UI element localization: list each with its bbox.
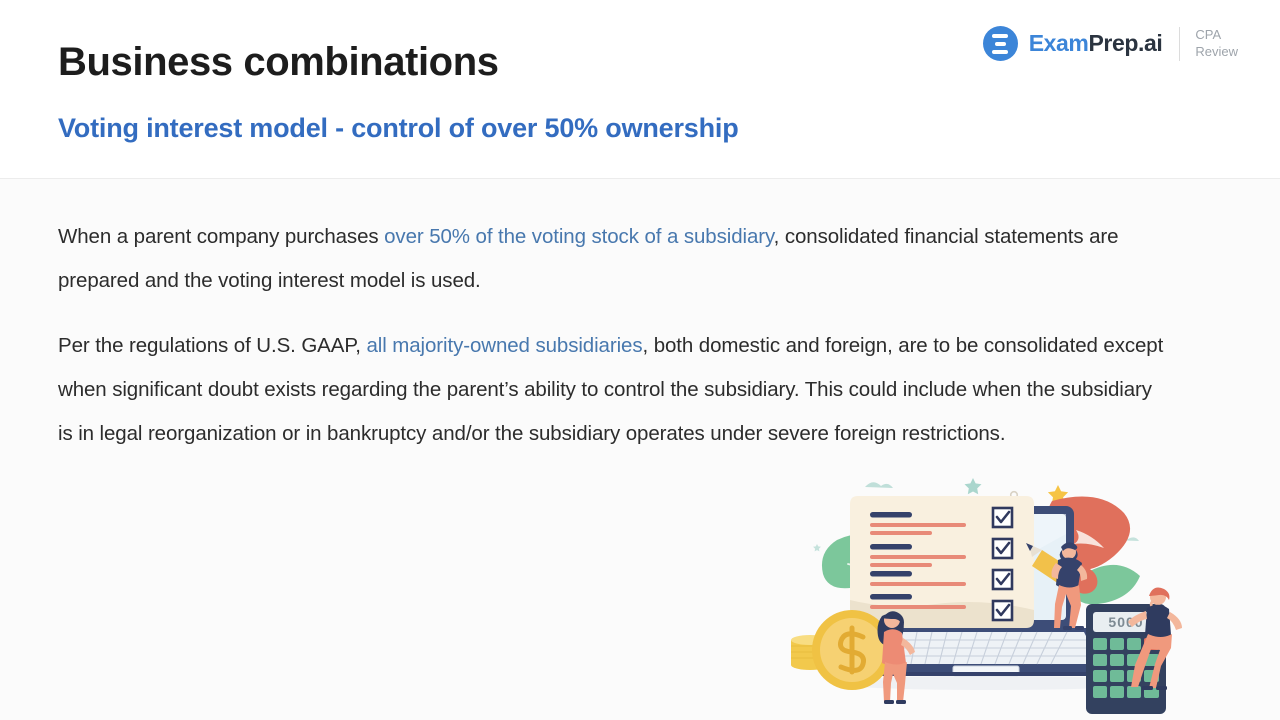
brand-subtitle: CPA Review bbox=[1195, 27, 1238, 60]
paragraph-2: Per the regulations of U.S. GAAP, all ma… bbox=[58, 324, 1168, 456]
green-star-tiny-icon bbox=[813, 544, 821, 551]
highlighted-text: all majority-owned subsidiaries bbox=[366, 334, 642, 357]
brand-wordmark-part2: Prep.ai bbox=[1088, 30, 1162, 56]
brand-wordmark-part1: Exam bbox=[1029, 30, 1089, 56]
text-segment: Per the regulations of U.S. GAAP, bbox=[58, 334, 366, 357]
brand-wordmark: ExamPrep.ai bbox=[1029, 32, 1163, 55]
slide: Business combinations Voting interest mo… bbox=[0, 0, 1280, 720]
examprep-circle-bars-icon bbox=[983, 26, 1018, 61]
checkbox-item bbox=[993, 601, 1012, 620]
brand-divider bbox=[1179, 27, 1180, 61]
checkbox-item bbox=[993, 570, 1012, 589]
cloud-shape bbox=[865, 482, 893, 488]
accounting-checklist-laptop-illustration: 5000 bbox=[790, 468, 1192, 720]
brand-subtitle-line2: Review bbox=[1195, 44, 1238, 60]
slide-header: Business combinations Voting interest mo… bbox=[0, 0, 1280, 179]
page-subtitle: Voting interest model - control of over … bbox=[58, 112, 738, 146]
brand-subtitle-line1: CPA bbox=[1195, 27, 1238, 43]
text-segment: When a parent company purchases bbox=[58, 225, 384, 248]
checkbox-item bbox=[993, 508, 1012, 527]
slide-content: When a parent company purchases over 50%… bbox=[58, 215, 1168, 456]
highlighted-text: over 50% of the voting stock of a subsid… bbox=[384, 225, 774, 248]
page-title: Business combinations bbox=[58, 38, 499, 86]
checklist-sheet bbox=[850, 496, 1034, 628]
paragraph-1: When a parent company purchases over 50%… bbox=[58, 215, 1168, 303]
checkbox-item bbox=[993, 539, 1012, 558]
brand-logo: ExamPrep.ai CPA Review bbox=[983, 26, 1238, 61]
